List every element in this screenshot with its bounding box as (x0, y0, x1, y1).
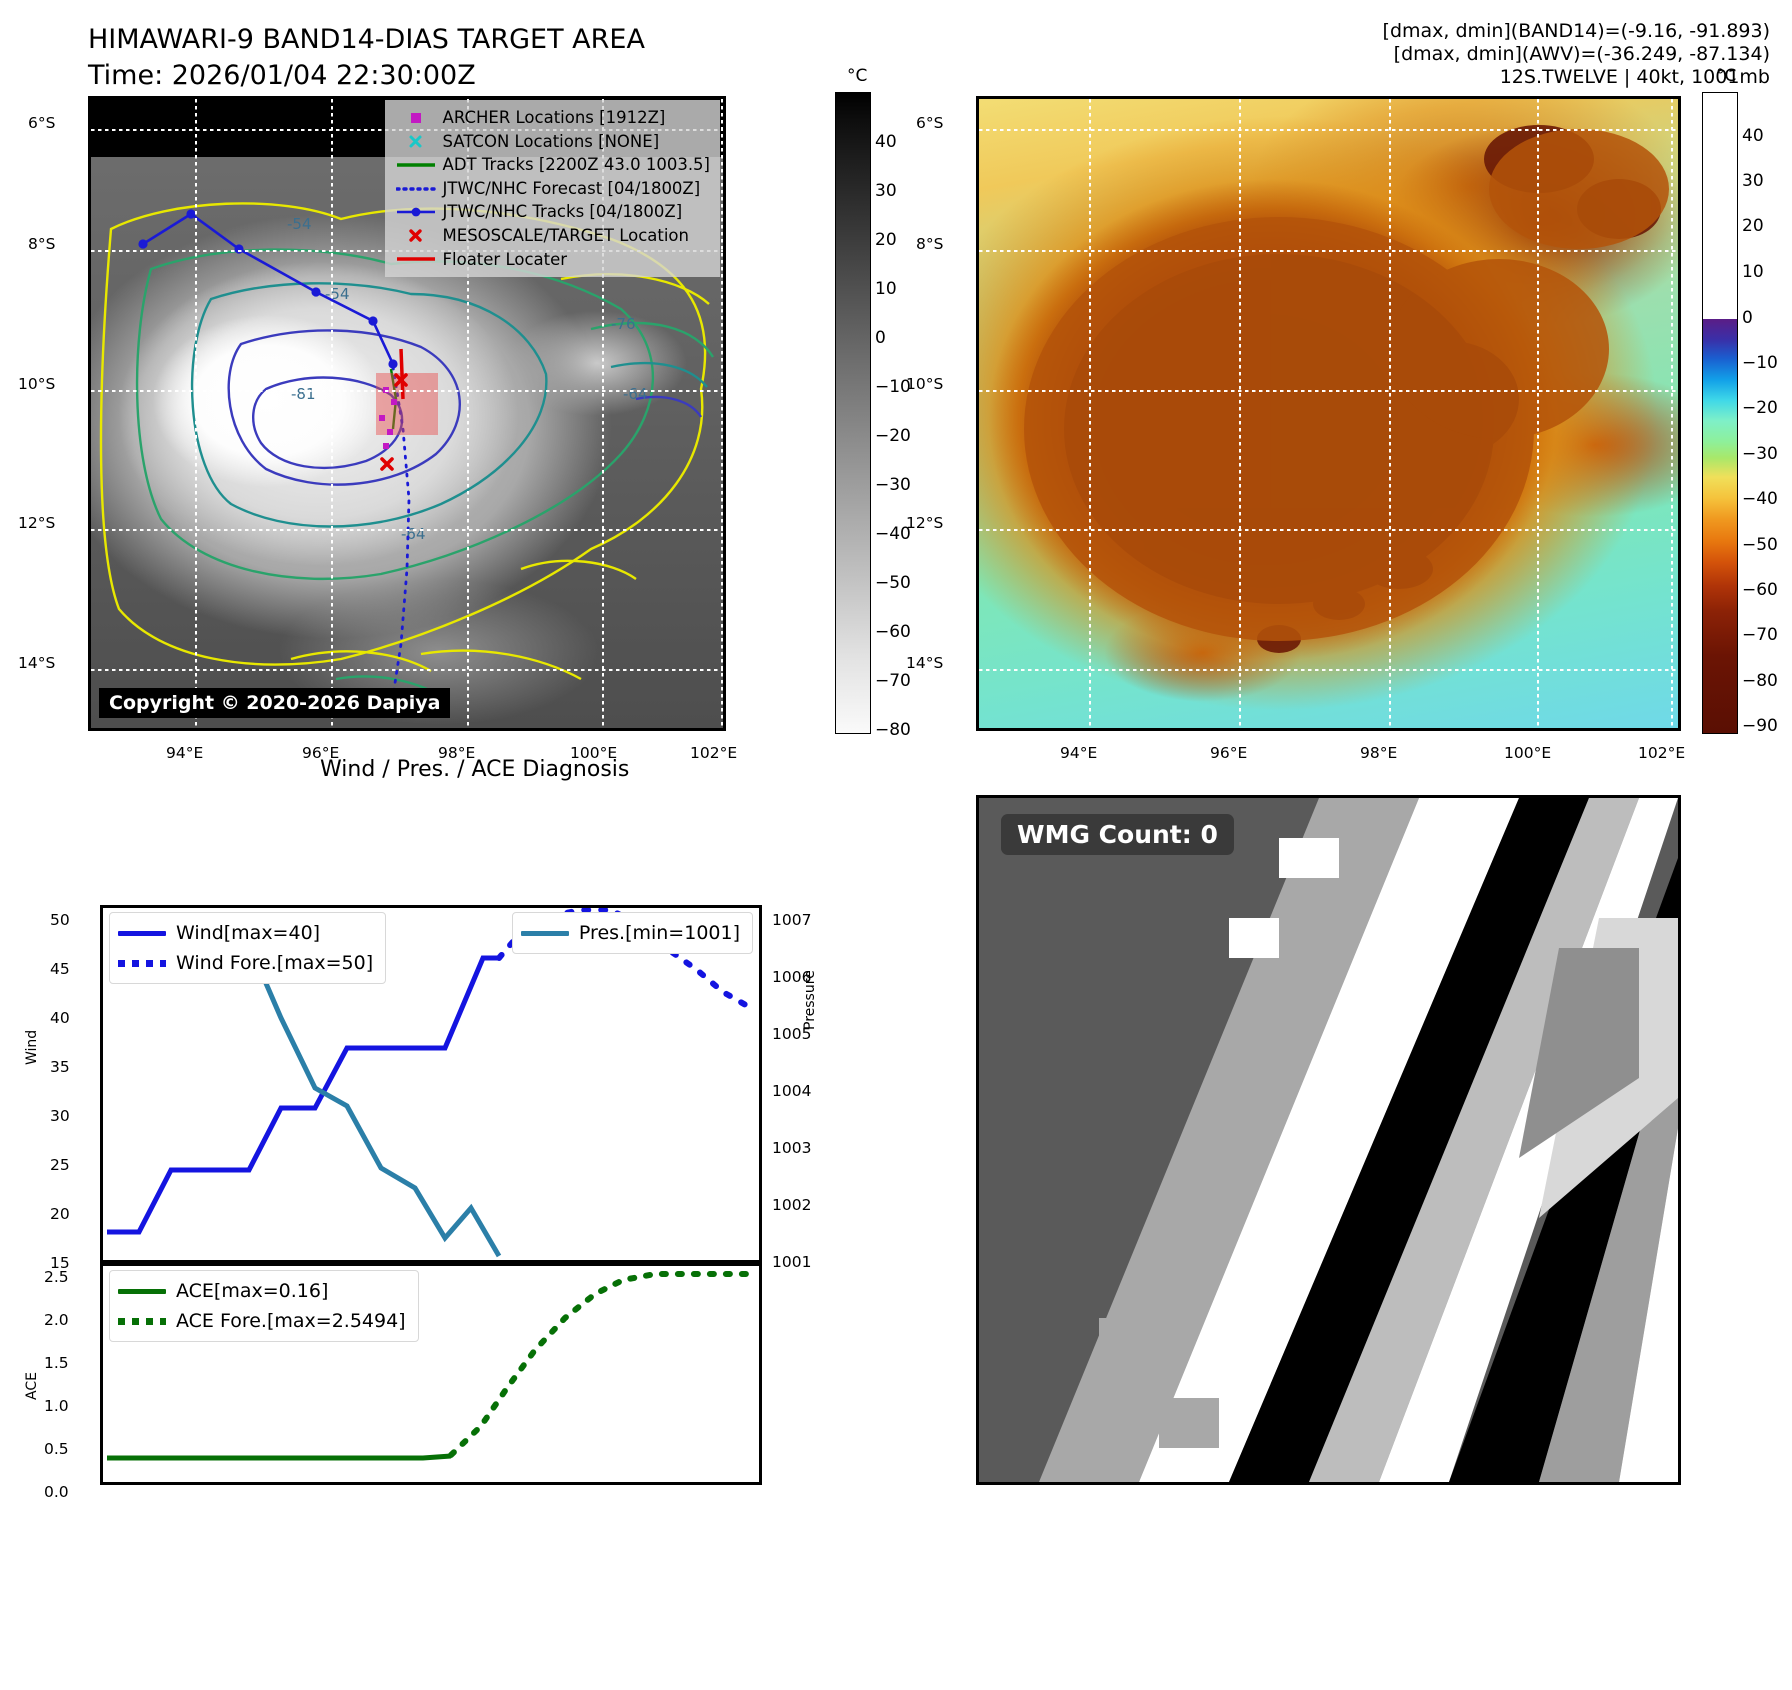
legend-item-jtwc-forecast[interactable]: JTWC/NHC Forecast [04/1800Z] (393, 177, 710, 201)
ir-gridline-v (331, 99, 333, 728)
awv-gridline-h (979, 529, 1678, 531)
legend-item-ace[interactable]: ACE[max=0.16] (118, 1276, 406, 1306)
awv-gridline-h (979, 390, 1678, 392)
colorbar-right-unit: °C (1716, 66, 1736, 86)
ir-legend[interactable]: ARCHER Locations [1912Z] SATCON Location… (385, 100, 720, 277)
legend-item-mesoscale-target[interactable]: MESOSCALE/TARGET Location (393, 224, 710, 248)
stats-awv: [dmax, dmin](AWV)=(-36.249, -87.134) (1383, 43, 1770, 66)
dotted-line-icon (118, 1318, 176, 1325)
awv-gridline-v (1089, 99, 1091, 728)
svg-text:-54: -54 (325, 285, 350, 303)
page-title: HIMAWARI-9 BAND14-DIAS TARGET AREA Time:… (88, 22, 645, 94)
ir-gridline-h (91, 529, 723, 531)
ace-legend[interactable]: ACE[max=0.16] ACE Fore.[max=2.5494] (109, 1270, 419, 1342)
solid-line-icon (393, 255, 439, 263)
svg-text:-64: -64 (401, 525, 426, 543)
legend-label: JTWC/NHC Forecast [04/1800Z] (439, 177, 701, 201)
legend-label: Pres.[min=1001] (579, 918, 740, 948)
legend-label: SATCON Locations [NONE] (439, 130, 660, 154)
solid-line-icon (521, 931, 579, 936)
ace-axis-label: ACE (24, 1372, 40, 1400)
legend-item-pressure[interactable]: Pres.[min=1001] (521, 918, 740, 948)
colorbar-left-ticks: 40 30 20 10 0 −10 −20 −30 −40 −50 −60 −7… (875, 92, 945, 732)
svg-text:-81: -81 (291, 385, 316, 403)
awv-gridline-v (1537, 99, 1539, 728)
legend-label: ACE Fore.[max=2.5494] (176, 1306, 406, 1336)
copyright-notice: Copyright © 2020-2026 Dapiya (99, 688, 450, 718)
dotted-line-icon (393, 185, 439, 193)
awv-xtick: 98°E (1360, 744, 1397, 762)
legend-label: ADT Tracks [2200Z 43.0 1003.5] (439, 153, 710, 177)
wind-legend[interactable]: Wind[max=40] Wind Fore.[max=50] (109, 912, 386, 984)
legend-item-floater-locater[interactable]: Floater Locater (393, 248, 710, 272)
wind-pressure-plot[interactable]: Wind[max=40] Wind Fore.[max=50] Pres.[mi… (100, 905, 762, 1263)
dotted-line-icon (118, 960, 176, 967)
svg-text:-54: -54 (287, 215, 312, 233)
ir-ytick: 10°S (18, 375, 55, 393)
awv-ytick: 14°S (906, 654, 943, 672)
legend-item-adt-tracks[interactable]: ADT Tracks [2200Z 43.0 1003.5] (393, 153, 710, 177)
solid-line-icon (118, 931, 176, 936)
ir-xtick: 94°E (166, 744, 203, 762)
awv-xtick: 100°E (1504, 744, 1551, 762)
awv-xtick: 94°E (1060, 744, 1097, 762)
ir-ytick: 14°S (18, 654, 55, 672)
ir-ytick: 12°S (18, 514, 55, 532)
square-marker-icon (393, 111, 439, 125)
wmg-count-badge: WMG Count: 0 (1001, 814, 1234, 855)
awv-gridline-v (1389, 99, 1391, 728)
legend-label: MESOSCALE/TARGET Location (439, 224, 689, 248)
awv-ytick: 12°S (906, 514, 943, 532)
legend-label: Wind Fore.[max=50] (176, 948, 373, 978)
solid-line-icon (393, 161, 439, 169)
legend-item-archer[interactable]: ARCHER Locations [1912Z] (393, 106, 710, 130)
wmg-imagery (979, 798, 1678, 1482)
svg-text:-76: -76 (611, 315, 636, 333)
legend-label: Floater Locater (439, 248, 568, 272)
legend-label: ARCHER Locations [1912Z] (439, 106, 666, 130)
awv-gridline-v (1671, 99, 1673, 728)
colorbar-right (1702, 92, 1738, 734)
stats-band14: [dmax, dmin](BAND14)=(-9.16, -91.893) (1383, 20, 1770, 43)
legend-label: ACE[max=0.16] (176, 1276, 328, 1306)
legend-item-wind-forecast[interactable]: Wind Fore.[max=50] (118, 948, 373, 978)
awv-cloud-detail (979, 99, 1678, 728)
legend-label: Wind[max=40] (176, 918, 320, 948)
legend-item-jtwc-tracks[interactable]: JTWC/NHC Tracks [04/1800Z] (393, 200, 710, 224)
awv-satellite-panel[interactable] (976, 96, 1681, 731)
awv-gridline-h (979, 250, 1678, 252)
ir-ytick: 8°S (28, 235, 55, 253)
colorbar-right-ticks: 40 30 20 10 0 −10 −20 −30 −40 −50 −60 −7… (1742, 92, 1792, 732)
x-marker-icon (393, 228, 439, 243)
x-marker-icon (393, 134, 439, 149)
ir-gridline-h (91, 390, 723, 392)
awv-ytick: 10°S (906, 375, 943, 393)
stats-storm: 12S.TWELVE | 40kt, 1001mb (1383, 66, 1770, 89)
pressure-legend[interactable]: Pres.[min=1001] (512, 912, 753, 954)
awv-gridline-h (979, 669, 1678, 671)
awv-ytick: 8°S (916, 235, 943, 253)
awv-xtick: 102°E (1638, 744, 1685, 762)
svg-text:-64: -64 (623, 385, 648, 403)
line-with-dot-icon (393, 206, 439, 218)
ir-satellite-panel[interactable]: -54 -54 -76 -64 -81 -64 (88, 96, 726, 731)
solid-line-icon (118, 1289, 176, 1294)
wmg-panel[interactable]: WMG Count: 0 (976, 795, 1681, 1485)
awv-gridline-v (1239, 99, 1241, 728)
awv-ytick: 6°S (916, 114, 943, 132)
ir-gridline-v (721, 99, 723, 728)
ir-xtick: 102°E (690, 744, 737, 762)
legend-item-satcon[interactable]: SATCON Locations [NONE] (393, 130, 710, 154)
diagnosis-title: Wind / Pres. / ACE Diagnosis (320, 757, 629, 782)
legend-label: JTWC/NHC Tracks [04/1800Z] (439, 200, 683, 224)
awv-gridline-h (979, 129, 1678, 131)
colorbar-left-unit: °C (847, 66, 867, 86)
awv-xtick: 96°E (1210, 744, 1247, 762)
legend-item-ace-forecast[interactable]: ACE Fore.[max=2.5494] (118, 1306, 406, 1336)
legend-item-wind[interactable]: Wind[max=40] (118, 918, 373, 948)
wind-axis-label: Wind (24, 1030, 40, 1065)
stats-readout: [dmax, dmin](BAND14)=(-9.16, -91.893) [d… (1383, 20, 1770, 89)
ir-ytick: 6°S (28, 114, 55, 132)
ir-gridline-h (91, 669, 723, 671)
ace-plot[interactable]: ACE[max=0.16] ACE Fore.[max=2.5494] (100, 1263, 762, 1485)
ir-gridline-v (195, 99, 197, 728)
colorbar-left (835, 92, 871, 734)
